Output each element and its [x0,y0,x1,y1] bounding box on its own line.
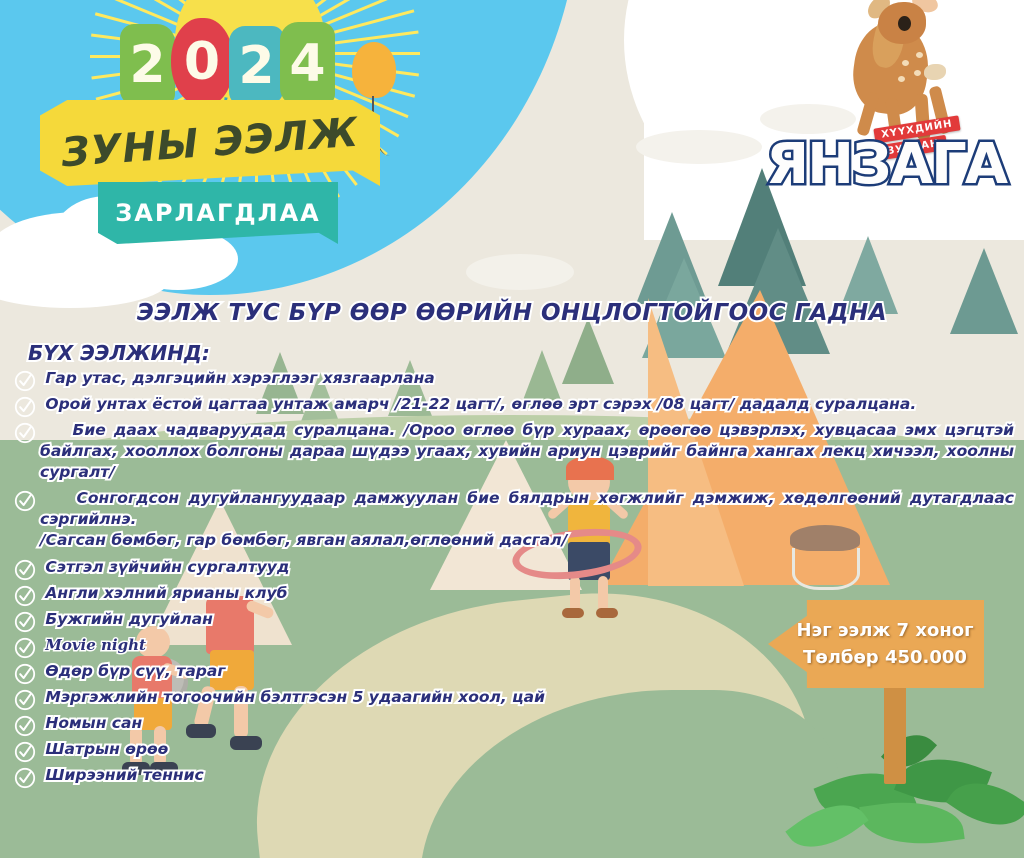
year-digit-3: 4 [280,22,335,106]
check-circle-icon [14,611,36,633]
list-item: Бие даах чадваруудад суралцана. /Opoo өг… [14,420,1014,482]
list-item: Номын сан [14,713,1014,737]
list-item: Орой унтах ёстой цагтаа унтаж амарч /21-… [14,394,1014,418]
list-item-label: Сэтгэл зүйчийн сургалтууд [40,557,1014,578]
page-title: ЭЭЛЖ ТУС БҮР ӨӨР ӨӨРИЙН ОНЦЛОГТОЙГООС ГА… [0,300,1024,326]
list-item-label: Бие даах чадваруудад суралцана. /Opoo өг… [40,420,1014,482]
check-circle-icon [14,559,36,581]
deer-spot-2 [914,70,921,76]
check-circle-icon [14,422,36,444]
deer-tail [924,64,946,80]
deer-spot-4 [916,52,923,58]
list-item-sublabel: /Сагсан бөмбөг, гар бөмбөг, явган аялал,… [40,530,1014,551]
list-item-label: Шатрын өрөө [40,739,1014,760]
cloud-5 [466,254,574,290]
banner-yellow-label: ЗУНЫ ЭЭЛЖ [60,110,360,177]
list-item: Сэтгэл зүйчийн сургалтууд [14,557,1014,581]
brand-logo: ХҮҮХДИЙН ЗУСЛАН ЯНЗАГА [766,4,1016,204]
poster-canvas: 2 0 2 4 ЗУНЫ ЭЭЛЖ ЗАРЛАГДЛАА ХҮҮХДИЙН ЗУ… [0,0,1024,858]
check-circle-icon [14,663,36,685]
check-circle-icon [14,741,36,763]
list-item: Гар утас, дэлгэцийн хэрэглээг хязгаарлан… [14,368,1014,392]
year-digit-0: 2 [120,24,175,106]
deer-spot-3 [898,76,905,82]
check-circle-icon [14,715,36,737]
year-badge: 2 0 2 4 [120,18,331,106]
benefits-list: Гар утас, дэлгэцийн хэрэглээг хязгаарлан… [14,368,1014,791]
cloud-6 [636,130,762,164]
check-circle-icon [14,767,36,789]
check-circle-icon [14,396,36,418]
list-item-label: Гар утас, дэлгэцийн хэрэглээг хязгаарлан… [40,368,1014,389]
sign-post [884,672,906,784]
sign-price: Төлбөр 450.000 [803,644,967,671]
list-item-label: Ширээний теннис [40,765,1014,786]
section-subtitle: БҮХ ЭЭЛЖИНД: [28,341,210,365]
balloon-icon [352,42,396,98]
year-digit-1: 0 [171,18,233,106]
check-circle-icon [14,585,36,607]
check-circle-icon [14,370,36,392]
list-item-label: Номын сан [40,713,1014,734]
year-digit-2: 2 [229,26,284,106]
list-item: Сонгогдсон дугуйлангуудаар дамжуулан бие… [14,488,1014,550]
list-item-label: Сонгогдсон дугуйлангуудаар дамжуулан бие… [40,488,1014,530]
check-circle-icon [14,637,36,659]
brand-name: ЯНЗАГА [766,132,1006,197]
banner-teal-label: ЗАРЛАГДЛАА [115,199,320,227]
deer-spot-1 [902,60,909,66]
list-item-label: Мэргэжлийн тогоочийн бэлтгэсэн 5 удаагий… [40,687,1014,708]
check-circle-icon [14,490,36,512]
check-circle-icon [14,689,36,711]
deer-eye [898,16,911,31]
list-item-label: Орой унтах ёстой цагтаа унтаж амарч /21-… [40,394,1014,415]
list-item: Ширээний теннис [14,765,1014,789]
list-item: Мэргэжлийн тогоочийн бэлтгэсэн 5 удаагий… [14,687,1014,711]
list-item: Шатрын өрөө [14,739,1014,763]
sign-duration: Нэг ээлж 7 хоног [796,617,973,644]
